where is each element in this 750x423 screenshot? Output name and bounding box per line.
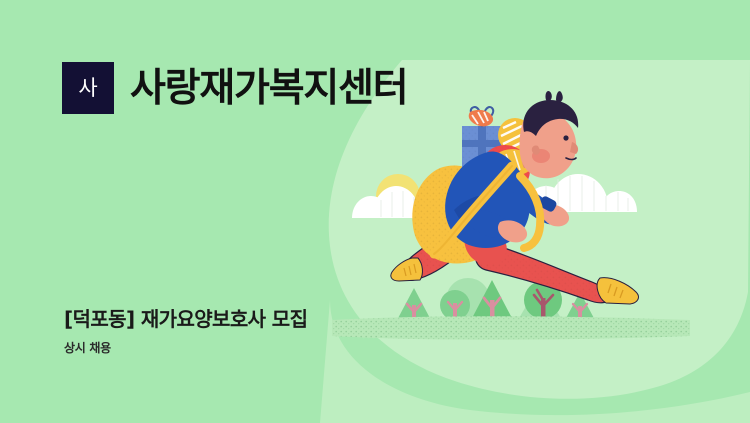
organization-name: 사랑재가복지센터 [130, 69, 407, 108]
posting-info-block: [덕포동] 재가요양보호사 모집 상시 채용 [64, 306, 307, 357]
posting-subline: 상시 채용 [64, 341, 307, 357]
ground-strip [332, 316, 690, 340]
brand-title-row: 사 사랑재가복지센터 [62, 62, 407, 114]
job-posting-banner: 사 사랑재가복지센터 [덕포동] 재가요양보호사 모집 상시 채용 [0, 0, 750, 423]
brand-logo-badge: 사 [62, 62, 114, 114]
posting-headline: [덕포동] 재가요양보호사 모집 [64, 306, 307, 332]
brand-badge-text: 사 [78, 78, 97, 99]
